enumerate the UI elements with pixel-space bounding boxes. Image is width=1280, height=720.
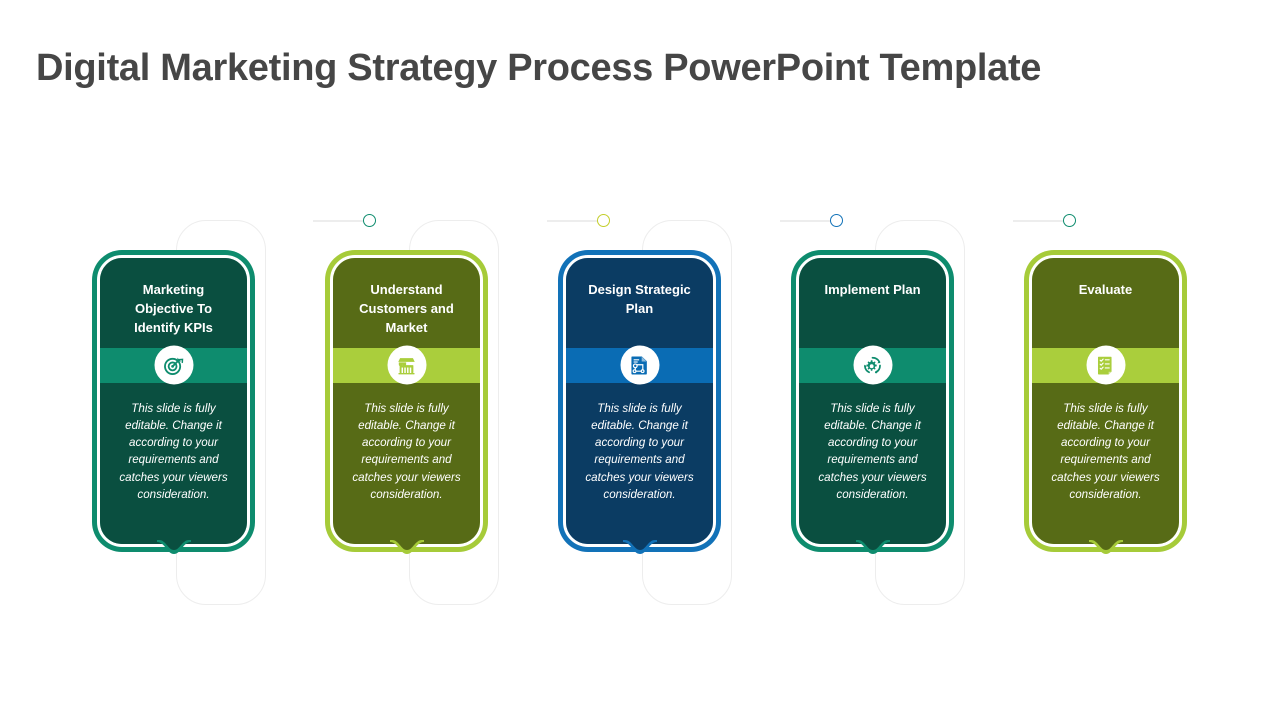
card-body: Implement PlanThis slide is fully editab… — [799, 258, 946, 544]
card-inner: Design Strategic PlanThis slide is fully… — [563, 255, 716, 547]
card-heading: Design Strategic Plan — [566, 258, 713, 330]
connector-line — [313, 220, 363, 222]
process-card-5[interactable]: EvaluateThis slide is fully editable. Ch… — [1024, 250, 1187, 552]
card-body: Design Strategic PlanThis slide is fully… — [566, 258, 713, 544]
card-heading: Marketing Objective To Identify KPIs — [100, 258, 247, 338]
plan-document-icon — [620, 346, 659, 385]
card-heading: Understand Customers and Market — [333, 258, 480, 338]
card-notch — [390, 540, 424, 562]
card-description: This slide is fully editable. Change it … — [566, 400, 713, 503]
card-description: This slide is fully editable. Change it … — [100, 400, 247, 503]
card-heading: Evaluate — [1032, 258, 1179, 330]
card-notch — [623, 540, 657, 562]
process-card-4[interactable]: Implement PlanThis slide is fully editab… — [791, 250, 954, 552]
process-card-3[interactable]: Design Strategic PlanThis slide is fully… — [558, 250, 721, 552]
gear-cycle-icon — [853, 346, 892, 385]
card-description: This slide is fully editable. Change it … — [1032, 400, 1179, 503]
process-diagram: Marketing Objective To Identify KPIsThis… — [0, 0, 1280, 720]
card-notch — [157, 540, 191, 562]
process-card-2[interactable]: Understand Customers and MarketThis slid… — [325, 250, 488, 552]
card-inner: Implement PlanThis slide is fully editab… — [796, 255, 949, 547]
card-heading: Implement Plan — [799, 258, 946, 330]
card-inner: EvaluateThis slide is fully editable. Ch… — [1029, 255, 1182, 547]
card-description: This slide is fully editable. Change it … — [333, 400, 480, 503]
card-inner: Marketing Objective To Identify KPIsThis… — [97, 255, 250, 547]
card-inner: Understand Customers and MarketThis slid… — [330, 255, 483, 547]
card-notch — [856, 540, 890, 562]
connector-line — [780, 220, 830, 222]
checklist-report-icon — [1086, 346, 1125, 385]
card-description: This slide is fully editable. Change it … — [799, 400, 946, 503]
connector-line — [547, 220, 597, 222]
connector-line — [1013, 220, 1063, 222]
card-body: Marketing Objective To Identify KPIsThis… — [100, 258, 247, 544]
card-notch — [1089, 540, 1123, 562]
process-card-1[interactable]: Marketing Objective To Identify KPIsThis… — [92, 250, 255, 552]
slide-canvas: Digital Marketing Strategy Process Power… — [0, 0, 1280, 720]
storefront-icon — [387, 346, 426, 385]
card-body: Understand Customers and MarketThis slid… — [333, 258, 480, 544]
connector-node-4[interactable] — [1063, 214, 1076, 227]
connector-node-3[interactable] — [830, 214, 843, 227]
card-body: EvaluateThis slide is fully editable. Ch… — [1032, 258, 1179, 544]
connector-node-1[interactable] — [363, 214, 376, 227]
target-icon — [154, 346, 193, 385]
connector-node-2[interactable] — [597, 214, 610, 227]
